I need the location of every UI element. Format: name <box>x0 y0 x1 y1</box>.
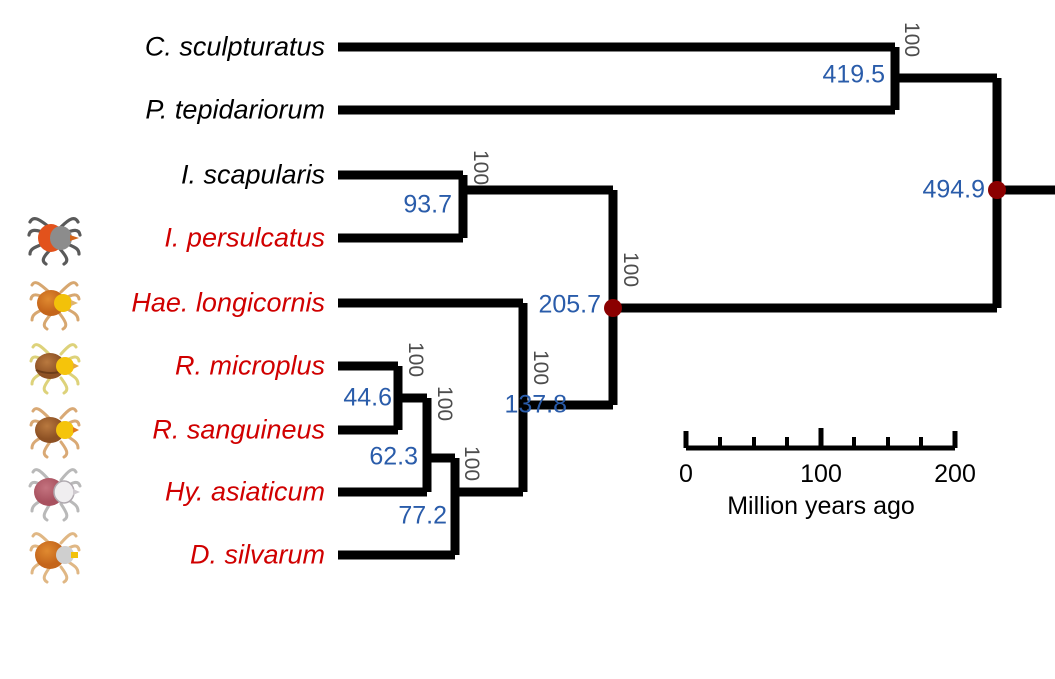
taxon-label-r-microplus: R. microplus <box>175 353 325 380</box>
scale-label-200: 200 <box>934 462 976 487</box>
node-dot-ixodida <box>604 299 622 317</box>
taxon-label-d-silvarum: D. silvarum <box>190 542 325 569</box>
divergence-time-metastriata: 137.8 <box>504 393 567 418</box>
scale-label-0: 0 <box>679 462 693 487</box>
tick-ixodes-icon <box>29 219 80 264</box>
scale-bar <box>686 428 955 448</box>
taxon-label-hae-longicornis: Hae. longicornis <box>131 290 325 317</box>
support-label-arachnid-out: 100 <box>901 22 922 57</box>
taxon-label-i-scapularis: I. scapularis <box>181 162 325 189</box>
tick-rhipicephalus-sanguineus-icon <box>31 409 79 457</box>
divergence-time-root: 494.9 <box>922 178 985 203</box>
tick-rhipicephalus-microplus-icon <box>31 345 79 393</box>
support-label-ixodes: 100 <box>470 150 491 185</box>
taxon-label-c-sculpturatus: C. sculpturatus <box>145 34 325 61</box>
node-dot-root <box>988 181 1006 199</box>
support-label-rhip-hyalomma: 100 <box>434 386 455 421</box>
scale-label-100: 100 <box>800 462 842 487</box>
divergence-time-rhip-hyalomma: 62.3 <box>369 445 418 470</box>
divergence-time-dermacentor: 77.2 <box>398 504 447 529</box>
taxon-label-hy-asiaticum: Hy. asiaticum <box>165 479 325 506</box>
divergence-time-ixodida: 205.7 <box>538 293 601 318</box>
divergence-time-rhipicephalus: 44.6 <box>343 386 392 411</box>
taxon-label-i-persulcatus: I. persulcatus <box>164 225 325 252</box>
tick-haemaphysalis-icon <box>31 283 79 329</box>
taxon-label-r-sanguineus: R. sanguineus <box>152 417 325 444</box>
scale-axis-label: Million years ago <box>727 494 915 519</box>
divergence-time-ixodes: 93.7 <box>403 193 452 218</box>
support-label-ixodida: 100 <box>620 252 641 287</box>
tick-dermacentor-icon <box>31 534 79 582</box>
divergence-time-arachnid-out: 419.5 <box>822 63 885 88</box>
tick-hyalomma-icon <box>30 470 80 520</box>
support-label-rhipicephalus: 100 <box>405 342 426 377</box>
support-label-metastriata: 100 <box>530 350 551 385</box>
taxon-label-p-tepidariorum: P. tepidariorum <box>145 97 325 124</box>
support-label-dermacentor: 100 <box>461 446 482 481</box>
tick-illustrations <box>29 219 80 582</box>
